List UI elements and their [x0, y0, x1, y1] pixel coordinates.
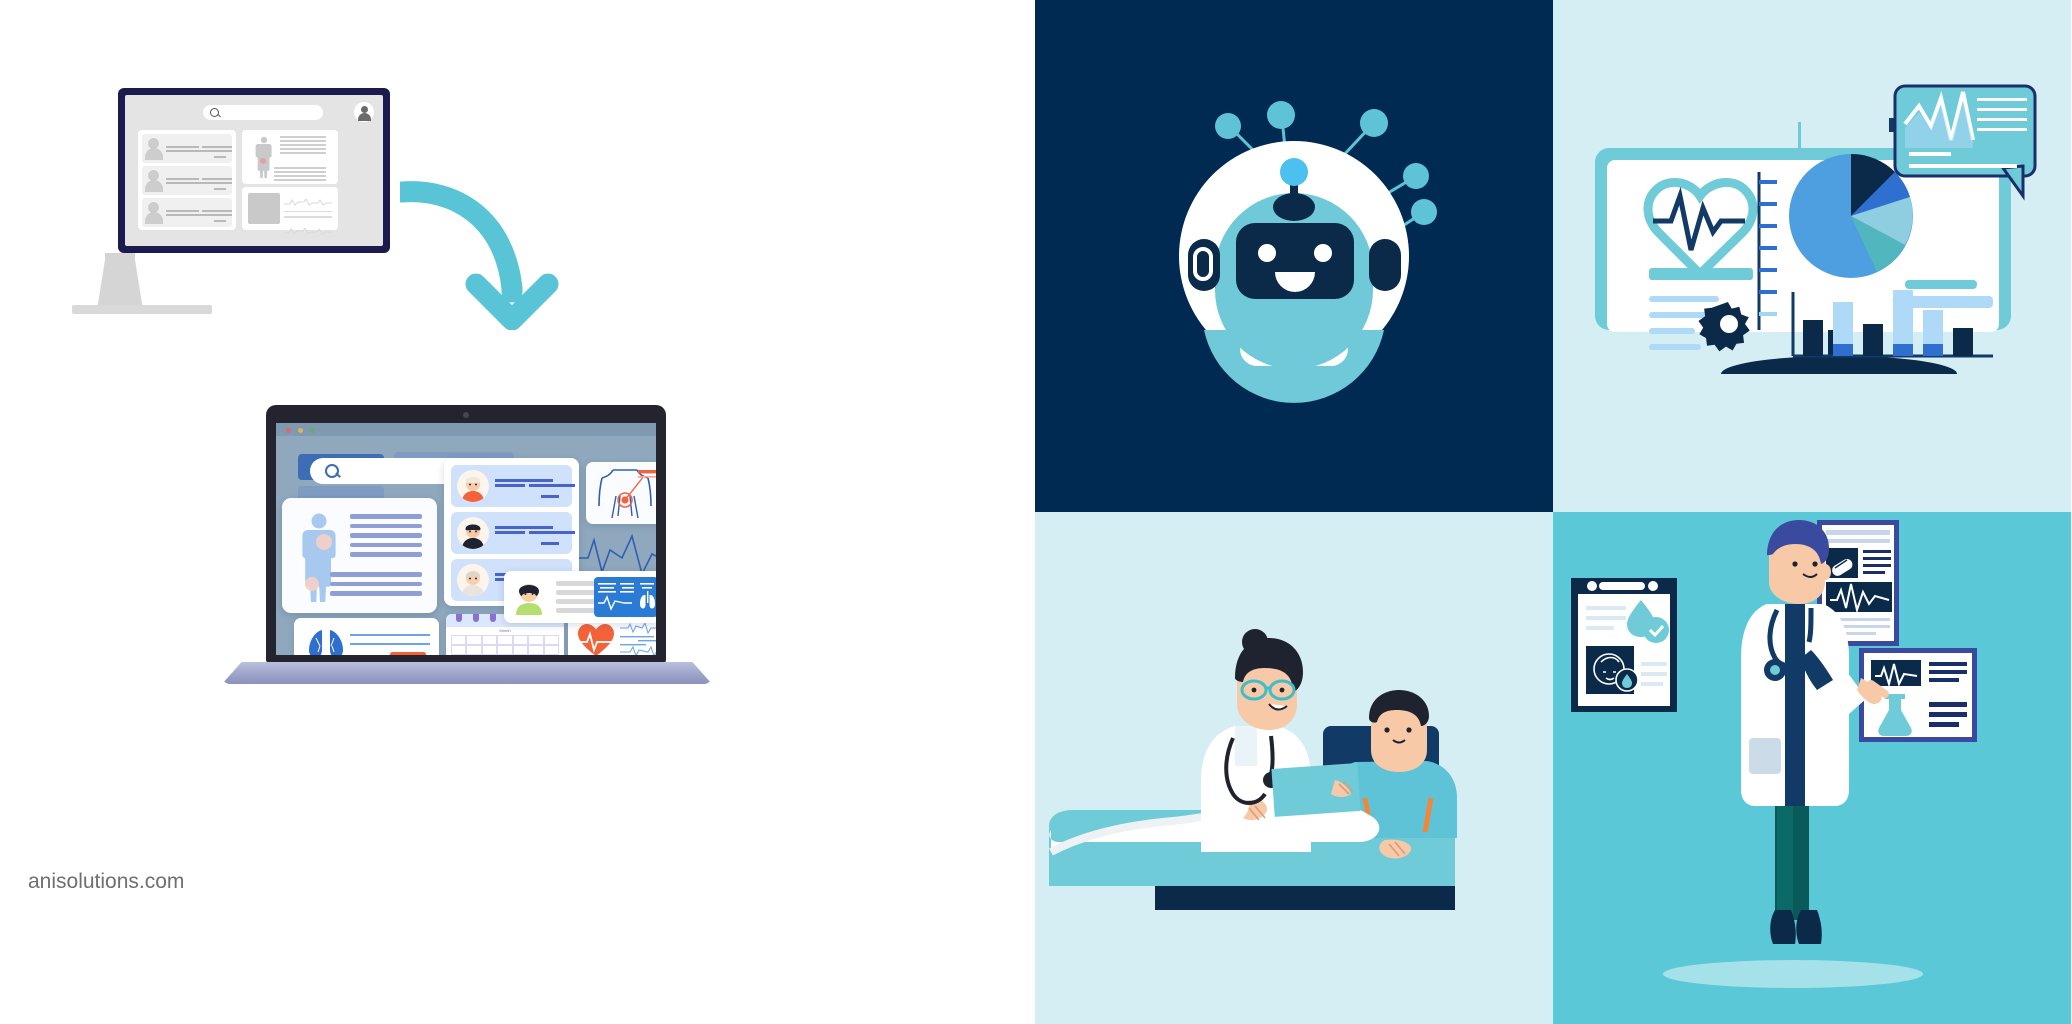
lungs-icon [304, 626, 348, 655]
status-bar [390, 652, 426, 655]
laptop-body: Month [266, 405, 666, 663]
modern-ehr-laptop: Month [222, 400, 712, 690]
browser-chrome [276, 423, 656, 436]
maximize-dot-icon[interactable] [310, 428, 315, 433]
avatar-head-icon [361, 106, 368, 113]
analytics-dashboard-illustration [1553, 0, 2071, 512]
human-body-icon [254, 136, 274, 178]
text-line [166, 210, 199, 212]
calendar-ring-icon [456, 614, 462, 622]
avatar [457, 564, 489, 596]
text-line [202, 210, 232, 212]
illustration-grid [1035, 0, 2072, 1024]
doctor-patient-bedside-illustration [1035, 512, 1553, 1024]
record-text-lines-2 [274, 167, 326, 183]
list-item[interactable] [142, 198, 232, 227]
close-dot-icon[interactable] [286, 428, 291, 433]
ecg-waveform-icon [284, 199, 332, 206]
text-line [166, 146, 199, 148]
text-line [214, 156, 226, 158]
text-line [166, 214, 232, 216]
search-input[interactable] [203, 105, 323, 120]
laptop-screen: Month [276, 423, 656, 655]
laptop-base [222, 662, 712, 684]
pie-chart [1789, 154, 1913, 278]
avatar-body-icon [145, 180, 163, 192]
calendar-ring-icon [473, 614, 479, 622]
avatar[interactable] [354, 102, 374, 122]
doctor-medical-records-illustration [1553, 512, 2071, 1024]
list-item[interactable] [451, 512, 572, 554]
minimize-dot-icon[interactable] [298, 428, 303, 433]
text-line [214, 220, 226, 222]
list-item[interactable] [142, 134, 232, 163]
patient-chart-clipboard [1571, 578, 1677, 712]
heart-icon [576, 622, 616, 655]
website-label: anisolutions.com [28, 870, 184, 894]
lungs-icon [594, 577, 656, 617]
bedside-consultation-scene [1035, 512, 1553, 1024]
scan-image-thumbnail [248, 193, 280, 224]
monitor-frame [118, 88, 390, 253]
avatar-body-icon [145, 212, 163, 224]
lungs-record-card[interactable] [294, 618, 439, 655]
vitals-record-card[interactable] [504, 571, 656, 623]
transition-arrow [400, 180, 560, 330]
record-text-lines [280, 136, 326, 156]
ecg-lines [284, 193, 332, 240]
text-line [202, 146, 232, 148]
avatar [512, 579, 546, 615]
body-diagram-card[interactable] [282, 498, 437, 613]
monitor-foot [72, 305, 212, 314]
calendar-month-label: Month [446, 628, 564, 633]
body-diagram-panel [242, 130, 338, 184]
search-icon [210, 108, 219, 117]
list-item[interactable] [142, 166, 232, 195]
calendar-ring-icon [490, 614, 496, 622]
text-line [202, 178, 232, 180]
list-item[interactable] [451, 465, 572, 507]
robot-assistant-icon [1035, 0, 1553, 512]
text-line [166, 182, 232, 184]
torso-marker-card[interactable] [586, 462, 656, 524]
lung-report-block [594, 577, 656, 617]
physician-records-scene [1553, 512, 2071, 1024]
app-surface: Month [276, 436, 656, 655]
ai-chatbot-illustration [1035, 0, 1553, 512]
record-text-lines [350, 514, 422, 562]
torso-outline-icon [586, 462, 656, 524]
poster-canvas: Custom EHR 2026 [0, 0, 2072, 1024]
health-dashboard-monitor [1553, 0, 2071, 512]
record-text-lines-2 [330, 572, 422, 601]
left-panel: Custom EHR 2026 [0, 0, 1035, 1024]
monitor-screen [125, 95, 383, 246]
imaging-ecg-panel [242, 187, 338, 230]
avatar-body-icon [145, 148, 163, 160]
text-line [214, 188, 226, 190]
search-icon [325, 464, 339, 478]
calendar-grid [451, 635, 559, 655]
avatar [457, 517, 489, 549]
avatar-body-icon [358, 113, 371, 121]
monitor-neck [105, 253, 135, 267]
avatar [457, 470, 489, 502]
ecg-waveform-icon-2 [284, 228, 332, 235]
camera-icon [463, 412, 469, 418]
patient-list-panel [138, 130, 236, 230]
text-line [166, 178, 199, 180]
text-line [166, 150, 232, 152]
ecg-lines [620, 622, 656, 655]
